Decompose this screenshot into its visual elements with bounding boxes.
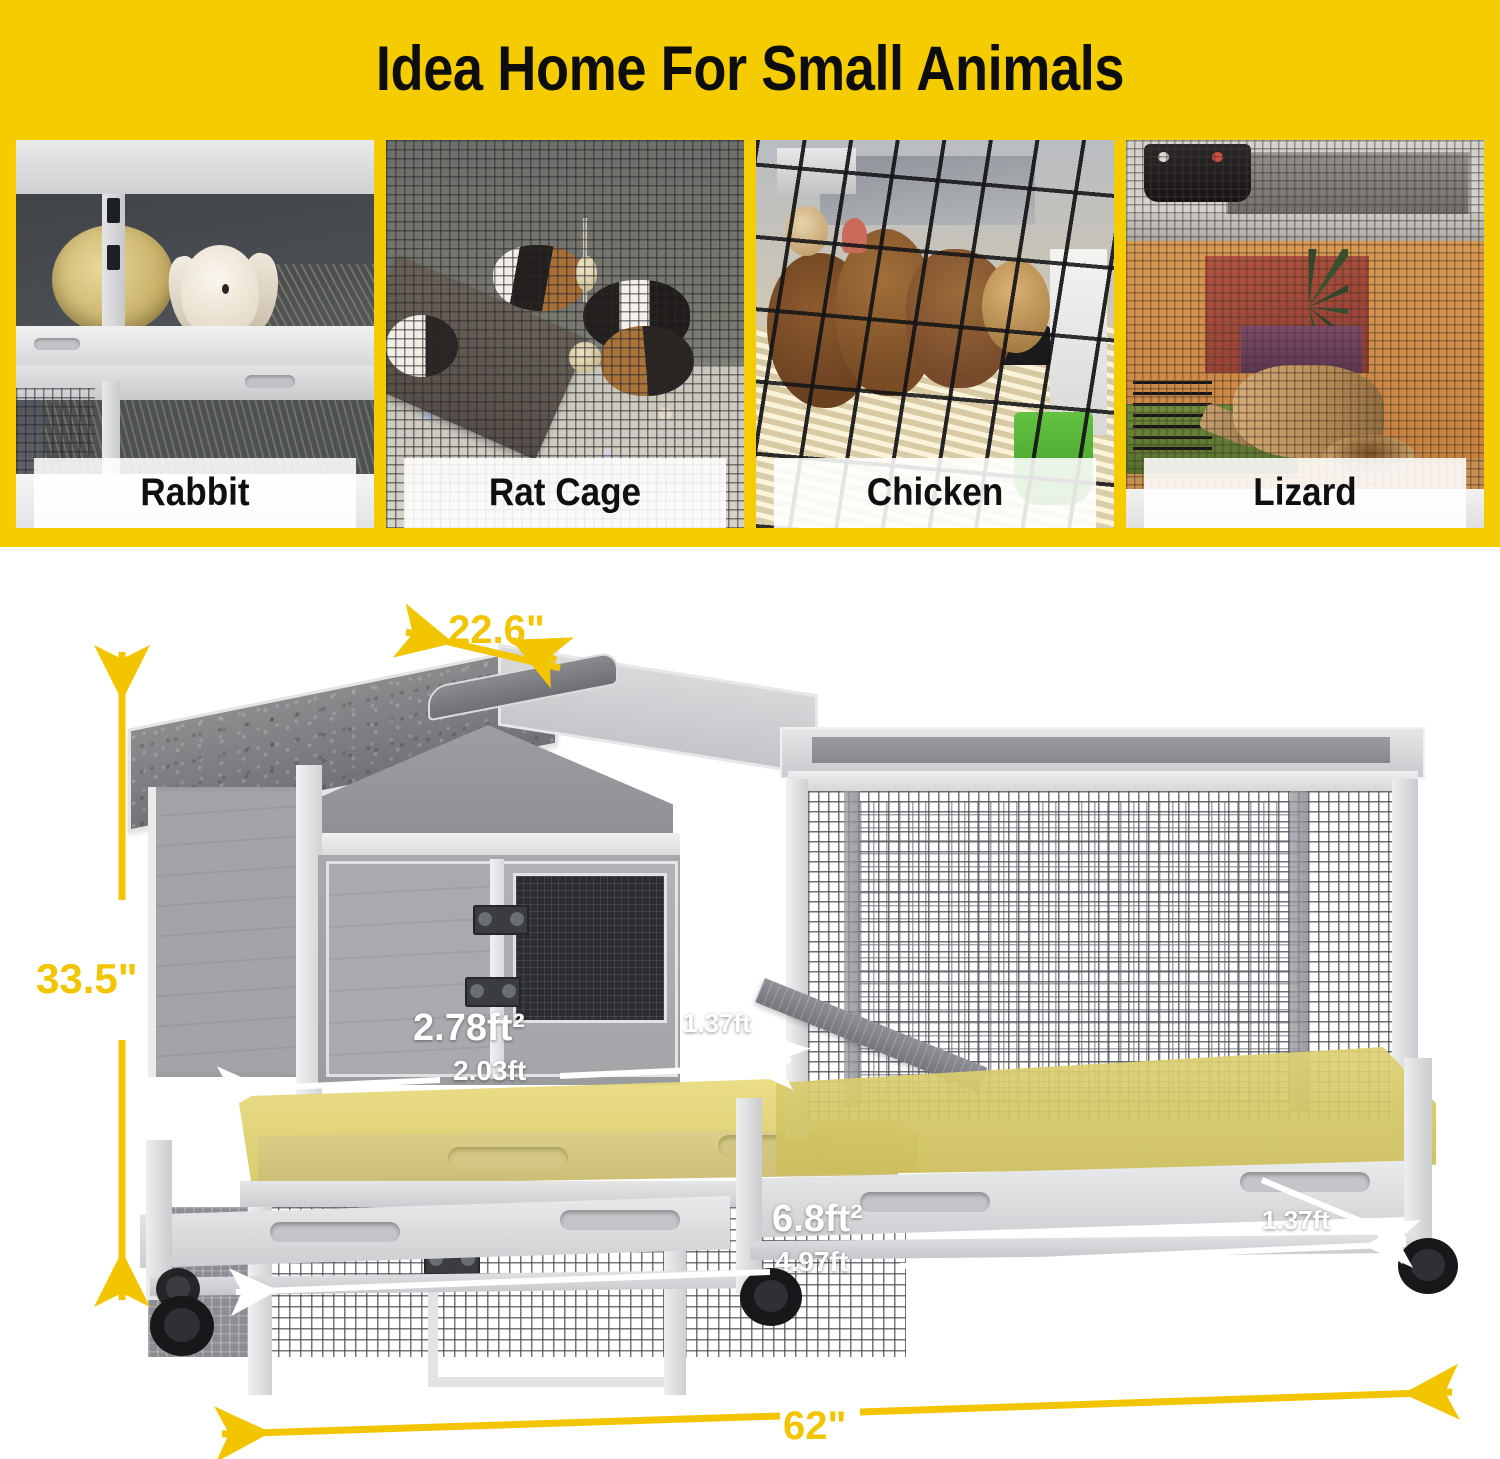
run-top-lip: [788, 771, 1418, 793]
upper-tray-handle: [448, 1147, 568, 1169]
door-latch-lower-icon: [465, 977, 521, 1007]
drawer-handle-3: [860, 1192, 990, 1212]
dim-lower-area: 6.8ft²: [772, 1198, 863, 1241]
run-back-post-left: [844, 791, 860, 1107]
drawer-handle-4: [1240, 1172, 1370, 1192]
photo-card-chicken: Chicken: [756, 140, 1114, 528]
dim-upper-area: 2.78ft²: [413, 1007, 525, 1050]
product-diagram: [0, 547, 1500, 1459]
photo-caption-chicken: Chicken: [774, 458, 1096, 528]
page-title: Idea Home For Small Animals: [105, 36, 1395, 102]
photo-card-rat-cage: Rat Cage: [386, 140, 744, 528]
caster-front-left: [150, 1296, 214, 1356]
photo-caption-lizard: Lizard: [1144, 458, 1466, 528]
dim-roof-depth: 22.6": [448, 608, 545, 653]
dim-upper-width: 2.03ft: [453, 1055, 526, 1087]
photo-strip: Rabbit Rat Cage: [16, 140, 1484, 528]
dim-total-height: 33.5": [36, 955, 138, 1003]
house-side-wall: [148, 787, 313, 1077]
drawer-handle-2: [560, 1210, 680, 1230]
header-banner: Idea Home For Small Animals: [0, 0, 1500, 547]
leg-middle: [736, 1098, 762, 1294]
dim-lower-depth: 1.37ft: [1262, 1205, 1330, 1236]
door-screen-mesh: [513, 873, 667, 1023]
hutch-house: [128, 647, 818, 1267]
drawer-handle-1: [270, 1222, 400, 1242]
caster-right: [1398, 1238, 1458, 1294]
door-latch-upper-icon: [473, 905, 529, 935]
dim-total-width: 62": [783, 1404, 846, 1449]
infographic-root: Idea Home For Small Animals: [0, 0, 1500, 1459]
photo-card-lizard: Lizard: [1126, 140, 1484, 528]
dim-lower-width: 4.97ft: [775, 1246, 848, 1278]
dim-upper-depth: 1.37ft: [683, 1008, 751, 1039]
photo-caption-rat-cage: Rat Cage: [404, 458, 726, 528]
photo-card-rabbit: Rabbit: [16, 140, 374, 528]
photo-caption-rabbit: Rabbit: [34, 458, 356, 528]
run-roof-inner: [812, 737, 1390, 763]
